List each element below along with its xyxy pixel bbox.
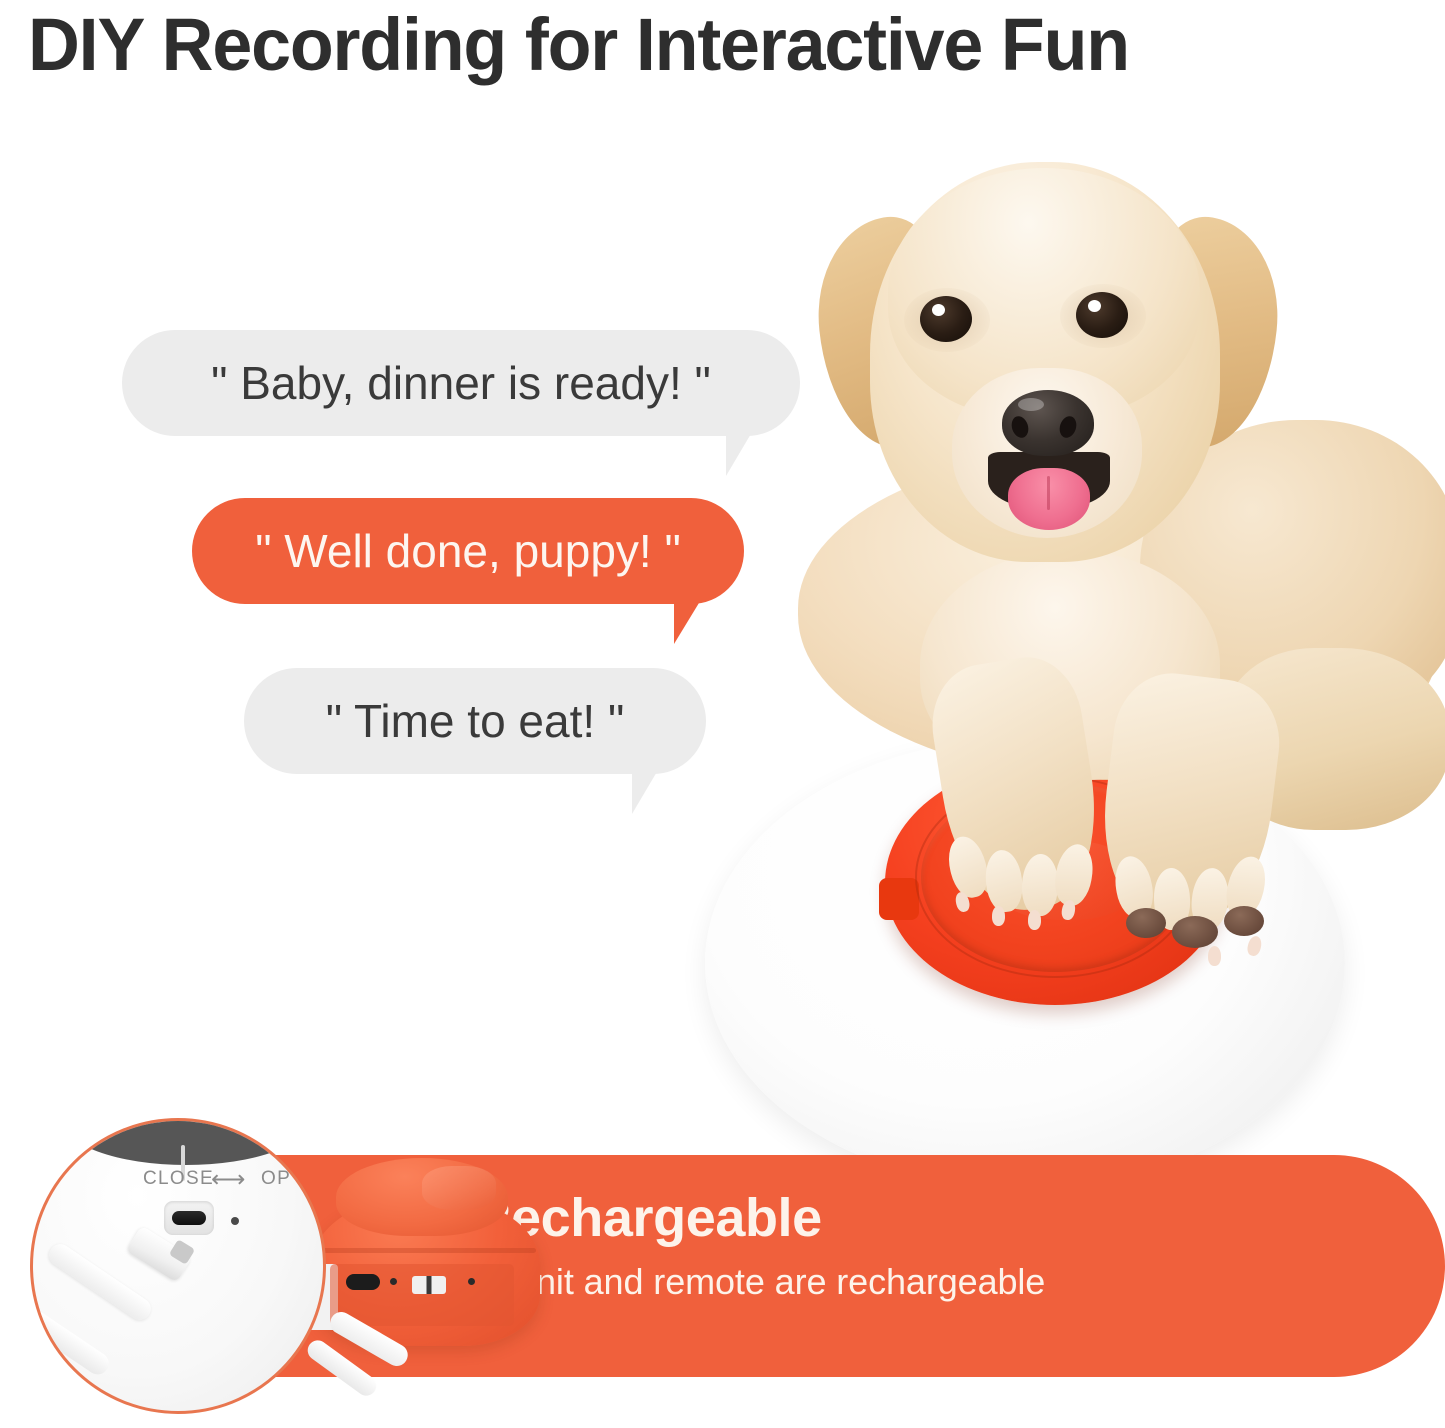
speech-bubble-text: " Well done, puppy! ": [255, 524, 681, 578]
usb-c-port-icon: [172, 1211, 206, 1225]
double-arrow-icon: ⟷: [211, 1165, 245, 1194]
puppy-eye-right: [1076, 292, 1128, 338]
device-seam: [316, 1248, 536, 1253]
led-indicator-icon: [231, 1217, 239, 1225]
puppy-nose-highlight: [1018, 398, 1044, 411]
puppy-eye-highlight-right: [1088, 300, 1101, 312]
labrador-puppy: [620, 120, 1445, 880]
led-indicator-icon: [468, 1278, 475, 1285]
led-indicator-icon: [390, 1278, 397, 1285]
puppy-paw-pad: [1126, 908, 1166, 938]
usb-port-detail-inset: CLOSE ⟷ OP: [30, 1118, 326, 1414]
puppy-claw: [1028, 910, 1041, 930]
close-label: CLOSE: [143, 1168, 214, 1190]
puppy-eye-left: [920, 296, 972, 342]
speech-bubble-text: " Time to eat! ": [326, 694, 625, 748]
puppy-paw-pad: [1224, 906, 1264, 936]
page-title: DIY Recording for Interactive Fun: [28, 2, 1347, 88]
product-hero-scene: [620, 120, 1445, 1190]
puppy-paw-pad: [1172, 916, 1218, 948]
usb-c-port-icon: [346, 1274, 380, 1290]
power-slide-switch[interactable]: [412, 1276, 446, 1294]
puppy-claw: [1208, 946, 1221, 966]
orange-remote-unit[interactable]: [296, 1152, 556, 1402]
inset-device-top: [61, 1118, 311, 1165]
device-top-cap: [336, 1158, 508, 1236]
open-label: OP: [261, 1168, 291, 1190]
puppy-claw: [992, 906, 1005, 926]
device-cap-ridge: [422, 1166, 496, 1210]
puppy-eye-highlight-left: [932, 304, 945, 316]
usb-cable-icon: [30, 1293, 113, 1378]
button-side-notch: [879, 878, 919, 920]
puppy-tongue-crease: [1047, 476, 1050, 510]
